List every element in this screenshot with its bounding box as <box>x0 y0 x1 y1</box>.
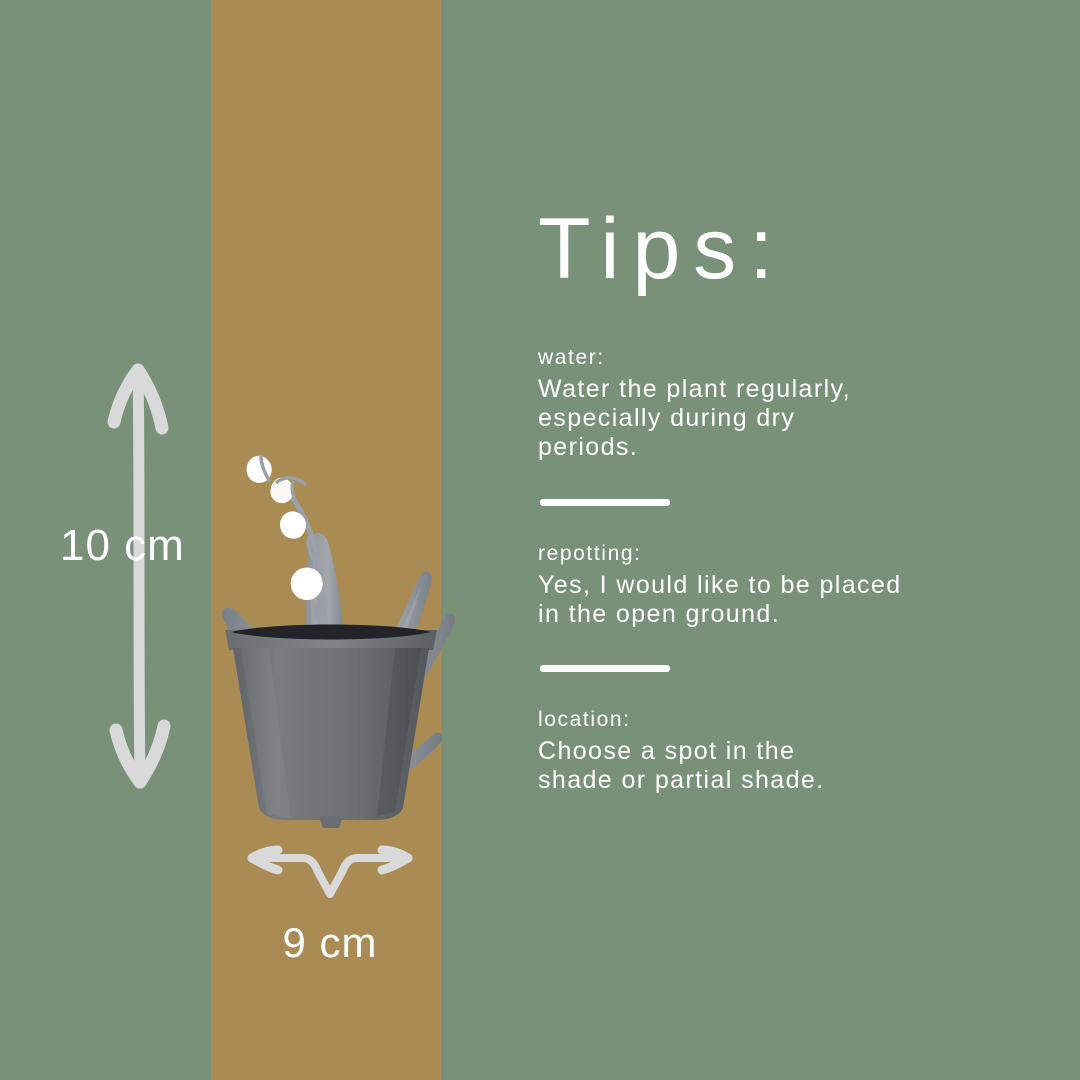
tip-location-label: location: <box>538 706 1038 735</box>
divider-1 <box>540 499 670 506</box>
plant-care-poster: 10 cm 9 cm Tips: water: Water the plant … <box>0 0 1080 1080</box>
lily-of-the-valley-plant <box>181 330 481 830</box>
tip-water-label: water: <box>538 344 1038 373</box>
height-label: 10 cm <box>60 524 185 568</box>
tip-water: water: Water the plant regularly, especi… <box>538 344 1038 463</box>
divider-2 <box>540 665 670 672</box>
tip-repotting: repotting: Yes, I would like to be place… <box>538 540 1038 629</box>
tips-title: Tips: <box>538 206 1038 292</box>
tip-repotting-body: Yes, I would like to be placed in the op… <box>538 571 1038 630</box>
pot-with-soil <box>225 625 437 829</box>
tip-water-body: Water the plant regularly, especially du… <box>538 375 1038 463</box>
tip-location-body: Choose a spot in the shade or partial sh… <box>538 737 1038 796</box>
tip-repotting-label: repotting: <box>538 540 1038 569</box>
tips-column: Tips: water: Water the plant regularly, … <box>538 206 1038 796</box>
horizontal-double-arrow-icon <box>240 840 420 900</box>
height-measure-arrow <box>88 340 198 810</box>
tip-location: location: Choose a spot in the shade or … <box>538 706 1038 795</box>
width-measure-arrow <box>240 840 420 900</box>
plant-image-stage <box>211 0 441 1080</box>
width-label: 9 cm <box>240 922 420 964</box>
vertical-double-arrow-icon <box>88 340 198 810</box>
